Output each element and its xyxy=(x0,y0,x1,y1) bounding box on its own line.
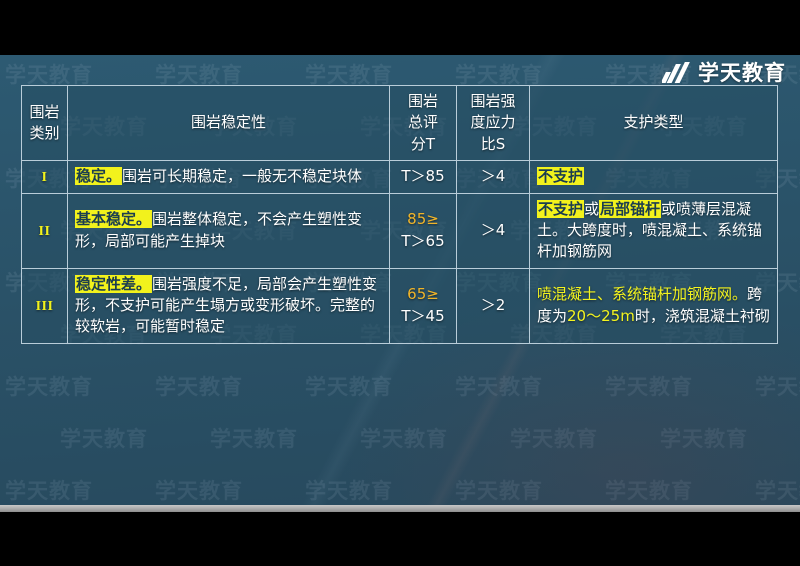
watermark-text: 学天教育 xyxy=(510,423,598,453)
table-row: I 稳定。围岩可长期稳定，一般无不稳定块体 T＞85 ＞4 不支护 xyxy=(22,160,778,193)
watermark-text: 学天教育 xyxy=(455,475,543,505)
cell-total-score: 85≥ T＞65 xyxy=(390,193,457,268)
cell-strength-stress-ratio: ＞4 xyxy=(457,193,530,268)
support-segment-2: 局部锚杆 xyxy=(599,200,661,218)
score-lower-bound: T＞85 xyxy=(397,166,449,187)
cell-category: II xyxy=(22,193,68,268)
support-segment-3: 时，浇筑混凝土衬砌 xyxy=(635,307,770,325)
watermark-text: 学天教育 xyxy=(5,475,93,505)
cell-stability: 稳定性差。围岩强度不足，局部会产生塑性变形，不支护可能产生塌方或变形破坏。完整的… xyxy=(68,268,390,343)
roman-numeral: III xyxy=(36,299,54,314)
watermark-text: 学天教育 xyxy=(155,475,243,505)
surrounding-rock-classification-table: 围岩 类别 围岩稳定性 围岩 总评 分T 围岩强 度应力 比S 支护类型 xyxy=(21,85,778,344)
cell-support-type: 喷混凝土、系统锚杆加钢筋网。跨度为20～25m时，浇筑混凝土衬砌 xyxy=(530,268,778,343)
support-segment-1: 或 xyxy=(584,200,599,218)
support-segment-0: 不支护 xyxy=(537,167,584,185)
watermark-text: 学天教育 xyxy=(210,423,298,453)
watermark-text: 学天教育 xyxy=(755,371,800,401)
table-row: II 基本稳定。围岩整体稳定，不会产生塑性变形，局部可能产生掉块 85≥ T＞6… xyxy=(22,193,778,268)
brand-name: 学天教育 xyxy=(698,57,786,87)
slanted-stripes-icon xyxy=(662,62,692,83)
score-upper-bound: 65≥ xyxy=(397,284,449,305)
support-segment-2: 20～25m xyxy=(567,307,635,325)
support-segment-0: 喷混凝土、系统锚杆加钢筋网。 xyxy=(537,285,747,303)
stability-detail: 围岩可长期稳定，一般无不稳定块体 xyxy=(122,167,362,185)
watermark-text: 学天教育 xyxy=(605,371,693,401)
cell-category: I xyxy=(22,160,68,193)
cell-support-type: 不支护 xyxy=(530,160,778,193)
watermark-text: 学天教育 xyxy=(360,423,448,453)
roman-numeral: II xyxy=(39,224,51,239)
stability-keyword: 基本稳定。 xyxy=(75,210,152,228)
watermark-text: 学天教育 xyxy=(455,371,543,401)
header-total-score: 围岩 总评 分T xyxy=(390,86,457,161)
brand-logo: 学天教育 xyxy=(662,57,786,87)
watermark-text: 学天教育 xyxy=(305,371,393,401)
watermark-text: 学天教育 xyxy=(155,371,243,401)
table-row: III 稳定性差。围岩强度不足，局部会产生塑性变形，不支护可能产生塌方或变形破坏… xyxy=(22,268,778,343)
cell-support-type: 不支护或局部锚杆或喷薄层混凝土。大跨度时，喷混凝土、系统锚杆加钢筋网 xyxy=(530,193,778,268)
watermark-text: 学天教育 xyxy=(660,423,748,453)
watermark-text: 学天教育 xyxy=(60,423,148,453)
header-support-type: 支护类型 xyxy=(530,86,778,161)
cell-total-score: T＞85 xyxy=(390,160,457,193)
stability-keyword: 稳定性差。 xyxy=(75,275,152,293)
score-lower-bound: T＞65 xyxy=(397,231,449,252)
roman-numeral: I xyxy=(42,170,48,185)
player-bottom-bar xyxy=(0,505,800,512)
score-lower-bound: T＞45 xyxy=(397,306,449,327)
stability-keyword: 稳定。 xyxy=(75,167,122,185)
cell-category: III xyxy=(22,268,68,343)
watermark-text: 学天教育 xyxy=(605,475,693,505)
watermark-text: 学天教育 xyxy=(305,475,393,505)
header-category: 围岩 类别 xyxy=(22,86,68,161)
watermark-text: 学天教育 xyxy=(755,475,800,505)
cell-strength-stress-ratio: ＞2 xyxy=(457,268,530,343)
slide-canvas: 学天教育学天教育学天教育学天教育学天教育学天教育学天教育学天教育学天教育学天教育… xyxy=(0,55,800,506)
cell-stability: 稳定。围岩可长期稳定，一般无不稳定块体 xyxy=(68,160,390,193)
score-upper-bound: 85≥ xyxy=(397,209,449,230)
cell-strength-stress-ratio: ＞4 xyxy=(457,160,530,193)
cell-total-score: 65≥ T＞45 xyxy=(390,268,457,343)
cell-stability: 基本稳定。围岩整体稳定，不会产生塑性变形，局部可能产生掉块 xyxy=(68,193,390,268)
support-segment-0: 不支护 xyxy=(537,200,584,218)
letterbox-stage: 学天教育学天教育学天教育学天教育学天教育学天教育学天教育学天教育学天教育学天教育… xyxy=(0,0,800,566)
header-strength-stress-ratio: 围岩强 度应力 比S xyxy=(457,86,530,161)
watermark-text: 学天教育 xyxy=(5,371,93,401)
table-header-row: 围岩 类别 围岩稳定性 围岩 总评 分T 围岩强 度应力 比S 支护类型 xyxy=(22,86,778,161)
header-stability: 围岩稳定性 xyxy=(68,86,390,161)
